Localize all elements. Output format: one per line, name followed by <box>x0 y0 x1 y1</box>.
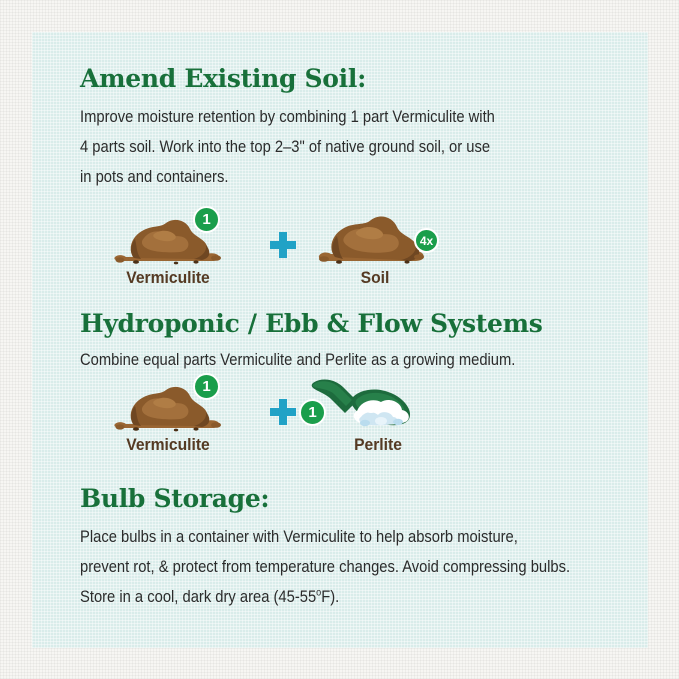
soil-pile-icon: 1 <box>108 210 228 266</box>
badge-quantity: 1 <box>193 206 220 233</box>
diagram-label-vermiculite: Vermiculite <box>113 268 223 288</box>
trowel-perlite-icon: 1 <box>295 377 435 433</box>
section-body-hydroponic: Combine equal parts Vermiculite and Perl… <box>80 345 620 375</box>
diagram-label-vermiculite: Vermiculite <box>113 435 223 455</box>
soil-pile-icon: 4x <box>315 210 435 266</box>
soil-pile-icon: 1 <box>108 377 228 433</box>
diagram-item-soil: 4x Soil <box>315 210 435 288</box>
page-background: Amend Existing Soil: Improve moisture re… <box>0 0 679 679</box>
diagram-item-vermiculite: 1 Vermiculite <box>108 210 228 288</box>
instruction-card: Amend Existing Soil: Improve moisture re… <box>32 32 648 648</box>
body-line: Combine equal parts Vermiculite and Perl… <box>80 345 566 375</box>
section-heading-hydroponic: Hydroponic / Ebb & Flow Systems <box>80 309 620 338</box>
body-line: in pots and containers. <box>80 162 566 192</box>
diagram-amend: 1 Vermiculite <box>80 210 620 290</box>
body-line: 4 parts soil. Work into the top 2–3" of … <box>80 132 566 162</box>
section-hydroponic: Hydroponic / Ebb & Flow Systems <box>80 309 620 338</box>
diagram-item-perlite: 1 Perlite <box>295 377 435 455</box>
section-body-bulb-storage: Place bulbs in a container with Vermicul… <box>80 522 620 612</box>
section-body-amend: Improve moisture retention by combining … <box>80 102 620 192</box>
section-heading-bulb-storage: Bulb Storage: <box>80 484 620 513</box>
body-line: Place bulbs in a container with Vermicul… <box>80 522 566 552</box>
section-amend-existing-soil: Amend Existing Soil: <box>80 64 620 93</box>
plus-operator-icon <box>270 232 296 258</box>
badge-quantity: 1 <box>299 399 326 426</box>
diagram-hydroponic: 1 Vermiculite <box>80 377 620 457</box>
plus-operator-icon <box>270 399 296 425</box>
body-line: prevent rot, & protect from temperature … <box>80 552 566 582</box>
body-line: Improve moisture retention by combining … <box>80 102 566 132</box>
temperature-suffix: F). <box>321 588 339 606</box>
badge-quantity: 4x <box>414 228 439 253</box>
diagram-item-vermiculite: 1 Vermiculite <box>108 377 228 455</box>
section-heading-amend: Amend Existing Soil: <box>80 64 620 93</box>
temperature-prefix: Store in a cool, dark dry area (45-55 <box>80 588 316 606</box>
diagram-label-perlite: Perlite <box>326 435 431 455</box>
section-bulb-storage: Bulb Storage: <box>80 484 620 513</box>
diagram-label-soil: Soil <box>320 268 430 288</box>
body-line-temperature: Store in a cool, dark dry area (45-55oF)… <box>80 582 566 612</box>
badge-quantity: 1 <box>193 373 220 400</box>
